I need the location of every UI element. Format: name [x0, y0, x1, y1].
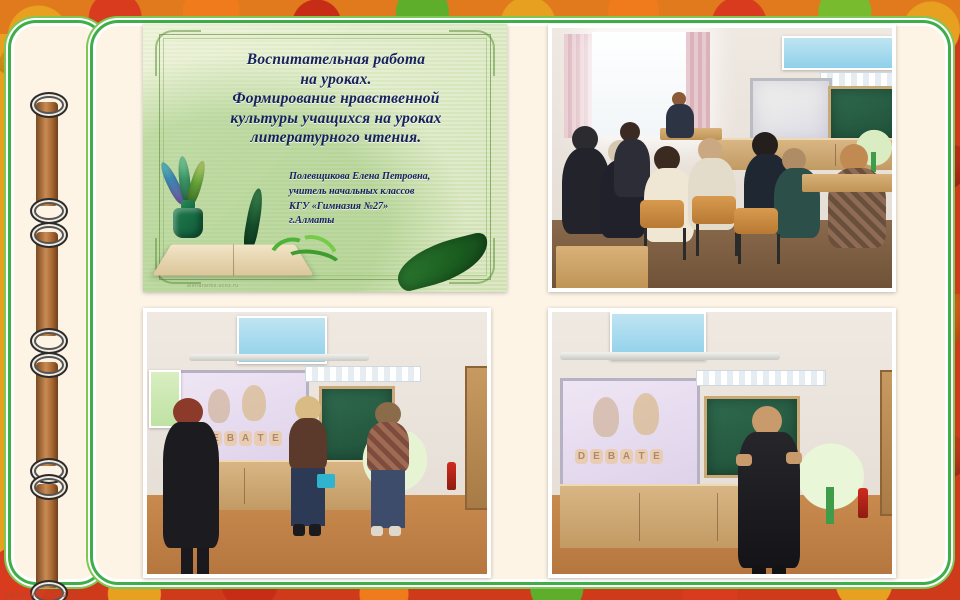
fire-extinguisher: [447, 462, 456, 490]
photo-single-presenter: DEBATE: [548, 308, 896, 578]
fire-extinguisher: [858, 488, 868, 518]
title-slide-author-block: Полевщикова Елена Петровна, учитель нача…: [289, 170, 491, 229]
title-line: на уроках.: [183, 70, 489, 90]
title-slide: Воспитательная работа на уроках. Формиро…: [143, 24, 507, 292]
author-line: КГУ «Гимназия №27»: [289, 200, 491, 215]
screen-text-debate: DEBATE: [575, 449, 663, 464]
classroom-scene: DEBATE: [552, 312, 892, 574]
curtain: [564, 34, 592, 138]
door: [880, 370, 892, 516]
alphabet-strip: [305, 366, 421, 382]
desk: [556, 246, 648, 288]
slide-page: Воспитательная работа на уроках. Формиро…: [0, 0, 960, 600]
ribbon-bow-icon: [269, 236, 339, 270]
chair: [692, 196, 736, 256]
chair: [734, 208, 778, 264]
door: [465, 366, 487, 510]
desk: [802, 174, 892, 192]
title-line: Формирование нравственной: [183, 89, 489, 109]
title-line: культуры учащихся на уроках: [183, 109, 489, 129]
projector-rail: [560, 352, 780, 360]
alphabet-strip: [696, 370, 826, 386]
photo-classroom-audience: [548, 24, 896, 292]
projector-rail: [189, 354, 369, 361]
projection-screen: DEBATE: [560, 378, 700, 488]
slide-watermark: alenaranko.ucoz.ru: [187, 283, 239, 289]
wall-poster: [782, 36, 892, 70]
author-line: учитель начальных классов: [289, 185, 491, 200]
classroom-scene: DEBATE: [147, 312, 487, 574]
title-line: литературного чтения.: [183, 128, 489, 148]
author-line: г.Алматы: [289, 214, 491, 229]
page-watermark: alenaranko.ucoz.ru: [4, 590, 77, 599]
inkwell-icon: [173, 208, 203, 238]
photo-three-presenters: DEBATE: [143, 308, 491, 578]
classroom-scene: [552, 28, 892, 288]
title-slide-heading: Воспитательная работа на уроках. Формиро…: [183, 50, 489, 148]
author-line: Полевщикова Елена Петровна,: [289, 170, 491, 185]
title-line: Воспитательная работа: [183, 50, 489, 70]
